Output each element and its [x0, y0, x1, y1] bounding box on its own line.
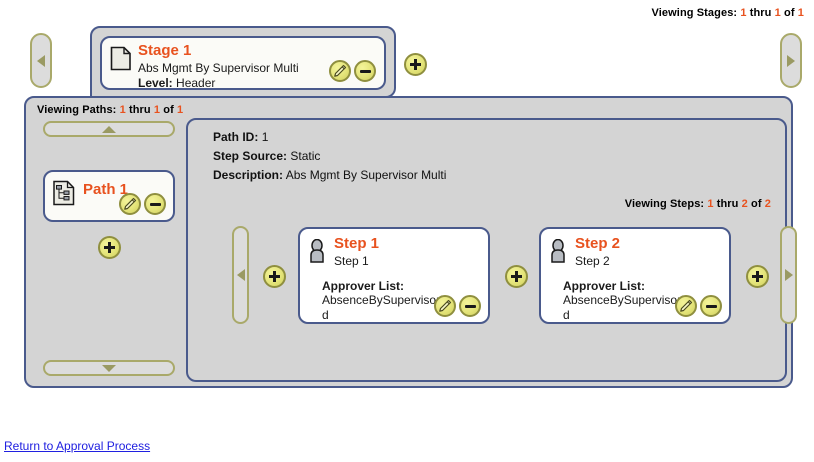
plus-icon — [269, 271, 280, 282]
stage-prev-button[interactable] — [30, 33, 52, 88]
viewing-steps-of: of — [751, 198, 762, 210]
viewing-steps-prefix: Viewing Steps: — [625, 198, 704, 210]
path-id-row: Path ID: 1 — [213, 128, 268, 147]
user-icon — [308, 239, 326, 263]
paths-frame: Viewing Paths: 1 thru 1 of 1 — [24, 96, 793, 388]
step-card[interactable]: Step 1 Step 1 Approver List: AbsenceBySu… — [298, 227, 490, 324]
viewing-stages-total: 1 — [798, 7, 804, 19]
path-diagram-icon — [52, 180, 76, 206]
viewing-stages-thru: thru — [750, 7, 772, 19]
add-stage-button[interactable] — [404, 53, 427, 76]
viewing-steps-to: 2 — [742, 198, 748, 210]
step-approver-label: Approver List: — [322, 279, 404, 293]
triangle-right-icon — [785, 269, 793, 281]
viewing-paths-of: of — [163, 104, 174, 116]
viewing-stages-label: Viewing Stages: 1 thru 1 of 1 — [652, 7, 804, 19]
stage-delete-button[interactable] — [354, 60, 376, 82]
document-icon — [110, 46, 132, 71]
paths-scroll-down-button[interactable] — [43, 360, 175, 376]
step-source-value: Static — [290, 149, 320, 163]
step-edit-button[interactable] — [675, 295, 697, 317]
viewing-stages-prefix: Viewing Stages: — [652, 7, 738, 19]
step-actions — [434, 295, 481, 317]
path-id-value: 1 — [262, 130, 269, 144]
step-source-row: Step Source: Static — [213, 147, 320, 166]
paths-scroll-up-button[interactable] — [43, 121, 175, 137]
stage-title: Stage 1 — [138, 43, 299, 58]
viewing-stages-of: of — [784, 7, 795, 19]
path-id-label: Path ID: — [213, 130, 258, 144]
viewing-steps-thru: thru — [717, 198, 739, 210]
viewing-steps-from: 1 — [707, 198, 713, 210]
stage-level-label: Level: — [138, 76, 173, 90]
path-card[interactable]: Path 1 — [43, 170, 175, 222]
stage-level-value: Header — [176, 76, 215, 90]
add-step-middle-button[interactable] — [505, 265, 528, 288]
plus-icon — [511, 271, 522, 282]
viewing-paths-label: Viewing Paths: 1 thru 1 of 1 — [37, 104, 183, 116]
minus-icon — [150, 203, 161, 206]
path-description-label: Description: — [213, 168, 283, 182]
viewing-paths-from: 1 — [120, 104, 126, 116]
step-actions — [675, 295, 722, 317]
triangle-right-icon — [787, 55, 795, 67]
step-source-label: Step Source: — [213, 149, 287, 163]
stage-level-row: Level: Header — [138, 76, 299, 90]
path-description-row: Description: Abs Mgmt By Supervisor Mult… — [213, 166, 446, 185]
stage-next-button[interactable] — [780, 33, 802, 88]
add-step-right-button[interactable] — [746, 265, 769, 288]
pencil-icon — [437, 298, 453, 314]
pencil-icon — [122, 196, 138, 212]
step-subtitle: Step 1 — [334, 254, 369, 268]
steps-next-button[interactable] — [780, 226, 797, 324]
steps-prev-button[interactable] — [232, 226, 249, 324]
pencil-icon — [678, 298, 694, 314]
triangle-left-icon — [37, 55, 45, 67]
stage-card[interactable]: Stage 1 Abs Mgmt By Supervisor Multi Lev… — [100, 36, 386, 90]
stage-description: Abs Mgmt By Supervisor Multi — [138, 61, 299, 75]
viewing-steps-label: Viewing Steps: 1 thru 2 of 2 — [625, 198, 771, 210]
path-description-value: Abs Mgmt By Supervisor Multi — [286, 168, 447, 182]
plus-icon — [752, 271, 763, 282]
minus-icon — [360, 70, 371, 73]
stage-actions — [329, 60, 376, 82]
minus-icon — [465, 305, 476, 308]
path-edit-button[interactable] — [119, 193, 141, 215]
path-delete-button[interactable] — [144, 193, 166, 215]
plus-icon — [410, 59, 421, 70]
step-subtitle: Step 2 — [575, 254, 610, 268]
user-icon — [549, 239, 567, 263]
minus-icon — [706, 305, 717, 308]
step-card[interactable]: Step 2 Step 2 Approver List: AbsenceBySu… — [539, 227, 731, 324]
step-approver-value: AbsenceBySupervisorId — [322, 293, 450, 323]
path-actions — [119, 193, 166, 215]
add-step-left-button[interactable] — [263, 265, 286, 288]
viewing-steps-total: 2 — [765, 198, 771, 210]
step-approver-label: Approver List: — [563, 279, 645, 293]
step-approver-value: AbsenceBySupervisorId — [563, 293, 691, 323]
stage-edit-button[interactable] — [329, 60, 351, 82]
viewing-stages-from: 1 — [740, 7, 746, 19]
add-path-button[interactable] — [98, 236, 121, 259]
step-title: Step 1 — [334, 236, 379, 251]
return-to-approval-process-link[interactable]: Return to Approval Process — [4, 439, 150, 453]
viewing-stages-to: 1 — [775, 7, 781, 19]
step-delete-button[interactable] — [700, 295, 722, 317]
triangle-up-icon — [102, 126, 116, 133]
stage-frame: Stage 1 Abs Mgmt By Supervisor Multi Lev… — [90, 26, 396, 98]
step-delete-button[interactable] — [459, 295, 481, 317]
triangle-left-icon — [237, 269, 245, 281]
pencil-icon — [332, 63, 348, 79]
triangle-down-icon — [102, 365, 116, 372]
viewing-paths-prefix: Viewing Paths: — [37, 104, 116, 116]
approval-process-canvas: Viewing Stages: 1 thru 1 of 1 Stage 1 Ab… — [0, 0, 814, 462]
step-edit-button[interactable] — [434, 295, 456, 317]
viewing-paths-total: 1 — [177, 104, 183, 116]
viewing-paths-thru: thru — [129, 104, 151, 116]
viewing-paths-to: 1 — [154, 104, 160, 116]
path-detail-frame: Path ID: 1 Step Source: Static Descripti… — [186, 118, 787, 382]
plus-icon — [104, 242, 115, 253]
step-title: Step 2 — [575, 236, 620, 251]
